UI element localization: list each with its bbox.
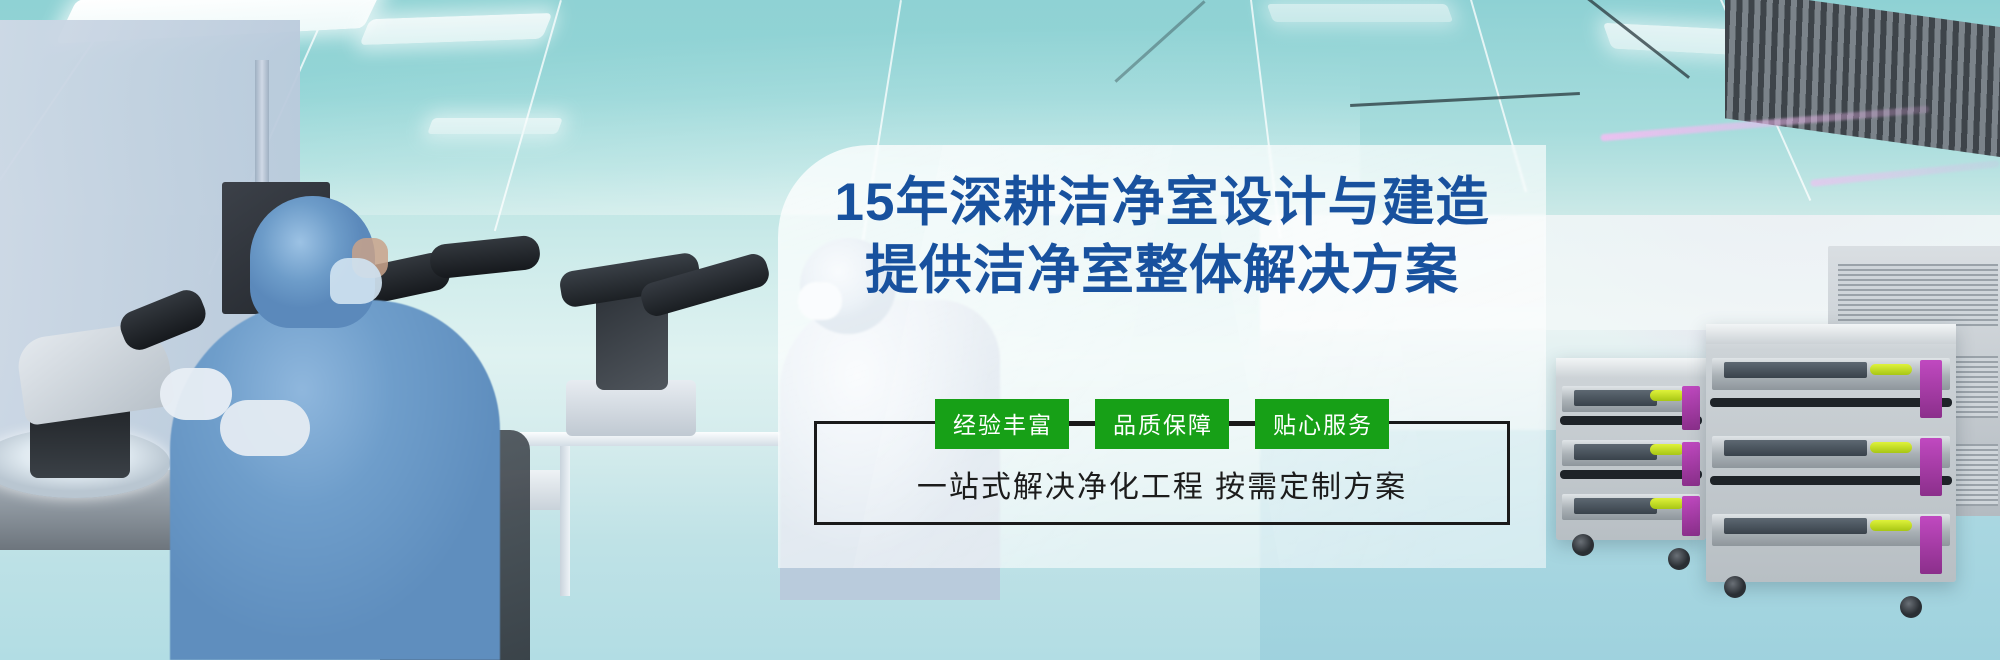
hero-headline: 15年深耕洁净室设计与建造 提供洁净室整体解决方案: [778, 169, 1546, 305]
hero-content-panel: 15年深耕洁净室设计与建造 提供洁净室整体解决方案 一站式解决净化工程 按需定制…: [778, 145, 1546, 568]
oven-control-panel: [1920, 516, 1942, 574]
oven-control-panel: [1682, 496, 1700, 536]
worker-glove: [220, 400, 310, 456]
oven-slot: [1710, 398, 1952, 407]
badge-service[interactable]: 贴心服务: [1255, 399, 1389, 449]
oven-deck: [1712, 514, 1950, 546]
oven-control-panel: [1682, 386, 1700, 430]
oven-caster: [1572, 534, 1594, 556]
oven-window: [1574, 390, 1657, 406]
bench-leg: [560, 446, 570, 596]
tagline-text: 一站式解决净化工程 按需定制方案: [817, 462, 1507, 506]
hero-banner: 15年深耕洁净室设计与建造 提供洁净室整体解决方案 一站式解决净化工程 按需定制…: [0, 0, 2000, 660]
deck-oven-back: [1556, 358, 1706, 540]
oven-handle: [1650, 498, 1684, 509]
headline-line-2: 提供洁净室整体解决方案: [778, 237, 1546, 305]
worker-mask: [330, 258, 382, 304]
worker-glove: [160, 368, 232, 420]
ceiling-light: [1267, 4, 1454, 22]
oven-control-panel: [1920, 438, 1942, 496]
oven-slot: [1560, 416, 1702, 425]
oven-handle: [1870, 442, 1912, 453]
oven-deck: [1712, 358, 1950, 390]
oven-handle: [1650, 444, 1684, 455]
oven-slot: [1710, 476, 1952, 485]
oven-control-panel: [1682, 442, 1700, 486]
oven-top: [1706, 324, 1956, 344]
ahu-grille: [1838, 264, 1998, 326]
badge-quality[interactable]: 品质保障: [1095, 399, 1229, 449]
oven-control-panel: [1920, 360, 1942, 418]
oven-handle: [1870, 520, 1912, 531]
deck-oven-front: [1706, 324, 1956, 582]
oven-window: [1574, 444, 1657, 460]
headline-line-1: 15年深耕洁净室设计与建造: [835, 173, 1490, 232]
oven-deck: [1712, 436, 1950, 468]
oven-top: [1556, 358, 1706, 378]
oven-caster: [1724, 576, 1746, 598]
badge-experience[interactable]: 经验丰富: [935, 399, 1069, 449]
oven-caster: [1900, 596, 1922, 618]
oven-window: [1574, 498, 1657, 514]
oven-handle: [1650, 390, 1684, 401]
ceiling-light: [427, 118, 563, 134]
oven-window: [1724, 362, 1867, 378]
worker-foreground: [170, 300, 500, 660]
oven-window: [1724, 518, 1867, 534]
oven-handle: [1870, 364, 1912, 375]
oven-slot: [1560, 470, 1702, 479]
oven-window: [1724, 440, 1867, 456]
oven-caster: [1668, 548, 1690, 570]
